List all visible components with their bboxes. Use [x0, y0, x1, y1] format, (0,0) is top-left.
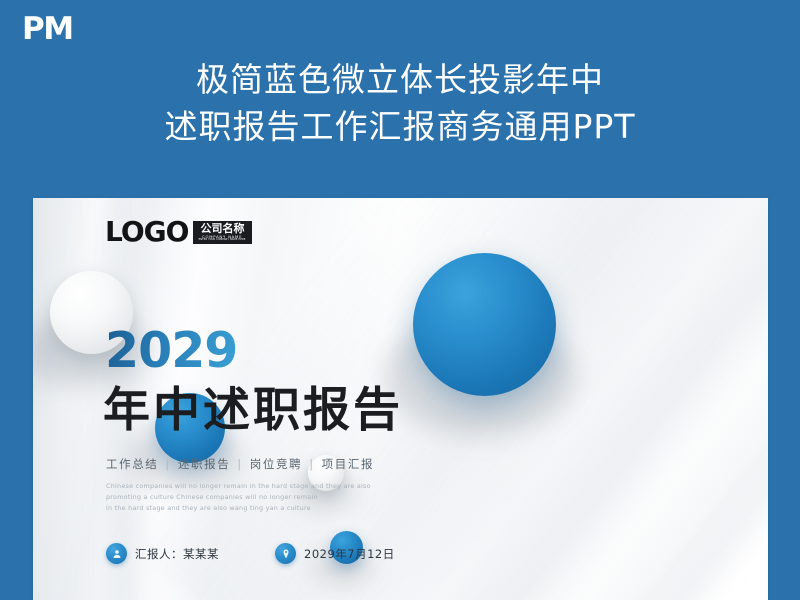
slide-meta-row: 汇报人：某某某 2029年7月12日: [106, 543, 395, 564]
location-pin-icon: [275, 543, 296, 564]
logo-wordmark: LOGO: [105, 220, 188, 244]
slide-year: 2029: [105, 326, 237, 375]
slide-description: Chinese companies will no longer remain …: [106, 481, 426, 514]
slide-tag: 工作总结: [106, 457, 158, 471]
meta-presenter: 汇报人：某某某: [106, 543, 219, 564]
description-line: in the hard stage and they are also wang…: [106, 503, 426, 514]
tag-separator: |: [230, 457, 249, 471]
slide-company-logo: LOGO 公司名称 COMPANY NAME ENTER YOUR COMPAN…: [105, 220, 252, 244]
slide-headline: 年中述职报告: [103, 387, 403, 434]
presenter-label: 汇报人：某某某: [135, 546, 219, 562]
brand-logo: PM: [22, 14, 73, 45]
page-root: PM 极简蓝色微立体长投影年中 述职报告工作汇报商务通用PPT LOGO 公司名…: [0, 0, 800, 600]
logo-badge: 公司名称 COMPANY NAME ENTER YOUR COMPANY NAM…: [193, 221, 251, 244]
description-line: promoting a culture Chinese companies wi…: [106, 492, 426, 503]
slide-tag-list: 工作总结|述职报告|岗位竞聘|项目汇报: [106, 456, 374, 472]
slide-preview-card[interactable]: LOGO 公司名称 COMPANY NAME ENTER YOUR COMPAN…: [33, 198, 768, 600]
tag-separator: |: [302, 457, 321, 471]
sphere-blue-large: [413, 253, 556, 396]
slide-tag: 项目汇报: [322, 457, 374, 471]
slide-tag: 述职报告: [178, 457, 230, 471]
page-title-line-1: 极简蓝色微立体长投影年中: [0, 56, 800, 103]
logo-badge-subtext: ENTER YOUR COMPANY NAME HERE: [199, 239, 246, 241]
slide-tag: 岗位竞聘: [250, 457, 302, 471]
person-icon: [106, 543, 127, 564]
tag-separator: |: [158, 457, 177, 471]
meta-date: 2029年7月12日: [275, 543, 395, 564]
description-line: Chinese companies will no longer remain …: [106, 481, 426, 492]
page-title: 极简蓝色微立体长投影年中 述职报告工作汇报商务通用PPT: [0, 56, 800, 150]
page-title-line-2: 述职报告工作汇报商务通用PPT: [0, 103, 800, 150]
date-label: 2029年7月12日: [304, 546, 395, 562]
logo-badge-chinese: 公司名称: [200, 223, 244, 234]
